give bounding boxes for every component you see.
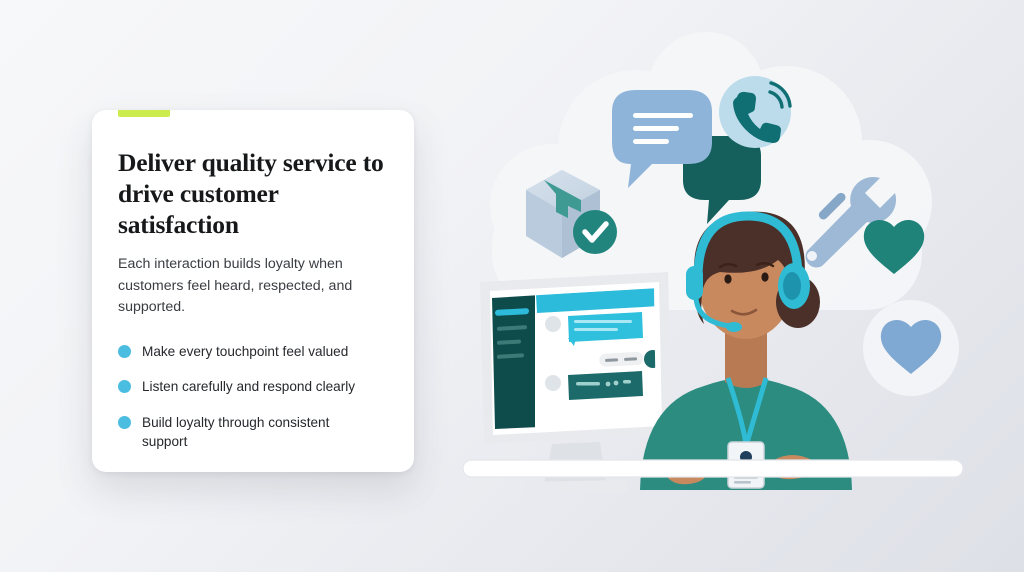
bullet-dot-icon [118,416,131,429]
content-card: Deliver quality service to drive custome… [92,110,414,472]
phone-call-icon [719,76,791,148]
bullet-dot-icon [118,345,131,358]
list-item: Build loyalty through consistent support [118,413,388,452]
heart-blue-icon [863,300,959,396]
check-circle-icon [573,210,617,254]
list-item: Listen carefully and respond clearly [118,377,388,396]
list-item: Make every touchpoint feel valued [118,342,388,361]
card-subcopy: Each interaction builds loyalty when cus… [118,254,373,319]
key-points-list: Make every touchpoint feel valued Listen… [118,342,388,451]
accent-bar [118,110,170,117]
desk-surface [463,460,963,477]
list-item-label: Listen carefully and respond clearly [142,377,355,396]
page-title: Deliver quality service to drive custome… [118,148,388,241]
customer-support-agent-illustration [440,30,1024,530]
list-item-label: Build loyalty through consistent support [142,413,367,452]
slide-canvas: Deliver quality service to drive custome… [0,0,1024,572]
bullet-dot-icon [118,380,131,393]
list-item-label: Make every touchpoint feel valued [142,342,348,361]
